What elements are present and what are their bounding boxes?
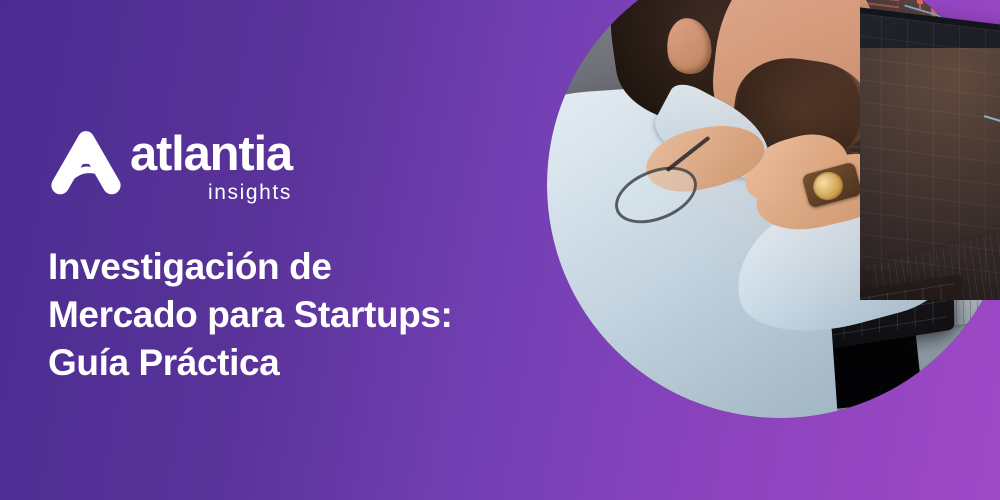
logo-subtitle: insights — [130, 181, 292, 205]
office-scene-extension — [860, 48, 1000, 300]
hero-photo-corner-extension — [860, 0, 1000, 300]
page-title: Investigación de Mercado para Startups: … — [48, 243, 568, 387]
page-title-line-3: Guía Práctica — [48, 339, 568, 387]
logo-word: atlantia — [130, 130, 292, 178]
atlantia-a-mark-icon — [48, 126, 124, 200]
page-title-line-2: Mercado para Startups: — [48, 291, 568, 339]
page-title-line-1: Investigación de — [48, 243, 568, 291]
watch-face — [810, 169, 846, 204]
atlantia-insights-logo[interactable]: atlantia insights — [48, 126, 292, 205]
blog-hero-banner: atlantia insights Investigación de Merca… — [0, 0, 1000, 500]
logo-wordmark: atlantia insights — [130, 126, 292, 205]
